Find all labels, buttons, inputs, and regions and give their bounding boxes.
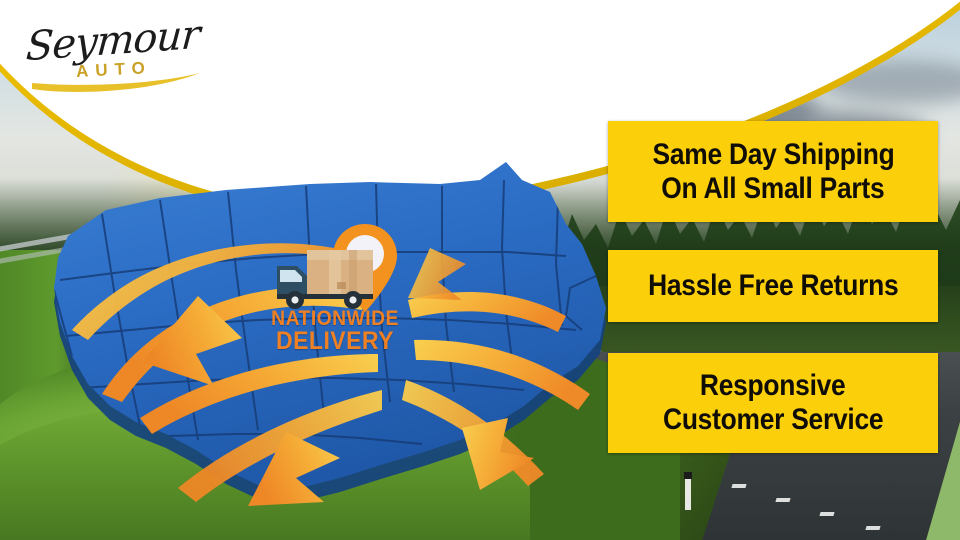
nationwide-line-2: DELIVERY: [261, 329, 408, 355]
nationwide-delivery-badge: NATIONWIDE DELIVERY: [255, 222, 415, 367]
promo-panel-line: Responsive: [700, 369, 846, 403]
roadside-marker-post: [685, 478, 691, 510]
promo-panel-responsive-customer-service[interactable]: Responsive Customer Service: [608, 353, 938, 453]
promo-banner: Seymour AUTO: [0, 0, 960, 540]
promo-panel-line: Same Day Shipping: [652, 138, 894, 172]
promo-panel-line: Hassle Free Returns: [648, 269, 898, 303]
lane-dash: [819, 512, 834, 516]
brand-logo[interactable]: Seymour AUTO: [18, 12, 208, 96]
lane-dash: [865, 526, 880, 530]
promo-panel-same-day-shipping[interactable]: Same Day Shipping On All Small Parts: [608, 121, 938, 222]
promo-panel-hassle-free-returns[interactable]: Hassle Free Returns: [608, 250, 938, 322]
delivery-truck-icon: [273, 244, 383, 312]
logo-swoosh-icon: [30, 69, 202, 95]
promo-panel-line: On All Small Parts: [661, 172, 884, 206]
nationwide-line-1: NATIONWIDE: [261, 308, 408, 329]
nationwide-delivery-label: NATIONWIDE DELIVERY: [255, 308, 415, 355]
lane-dash: [731, 484, 746, 488]
lane-dash: [775, 498, 790, 502]
promo-panel-line: Customer Service: [663, 403, 883, 437]
